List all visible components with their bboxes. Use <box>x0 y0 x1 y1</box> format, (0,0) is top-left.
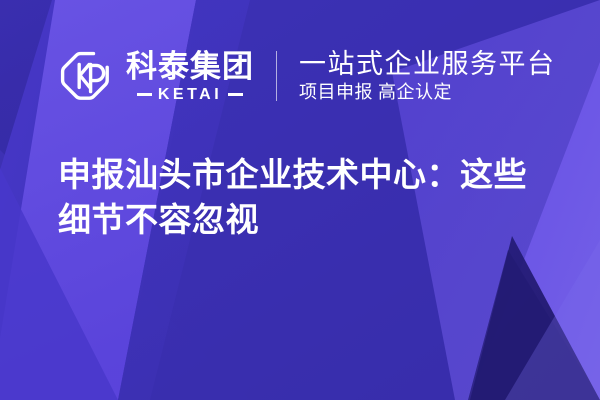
vertical-divider <box>276 51 277 101</box>
brand-name-cn: 科泰集团 <box>126 50 254 83</box>
tagline-main: 一站式企业服务平台 <box>299 49 556 80</box>
headline-title: 申报汕头市企业技术中心：这些细节不容忽视 <box>58 152 558 242</box>
brand-name-en: KETAI <box>158 86 222 103</box>
ketai-diamond-kp-logo-icon <box>56 47 114 105</box>
tagline-block: 一站式企业服务平台 项目申报 高企认定 <box>299 49 556 104</box>
brand-rule-right-icon <box>228 93 243 96</box>
brand-rule-left-icon <box>137 93 152 96</box>
brand-wordmark: 科泰集团 KETAI <box>126 50 254 103</box>
promo-banner: 科泰集团 KETAI 一站式企业服务平台 项目申报 高企认定 申报汕头市企业技术… <box>0 0 600 400</box>
brand-name-en-row: KETAI <box>126 86 254 103</box>
tagline-sub: 项目申报 高企认定 <box>299 81 556 104</box>
brand-lockup: 科泰集团 KETAI <box>56 47 254 105</box>
banner-header: 科泰集团 KETAI 一站式企业服务平台 项目申报 高企认定 <box>0 38 600 114</box>
